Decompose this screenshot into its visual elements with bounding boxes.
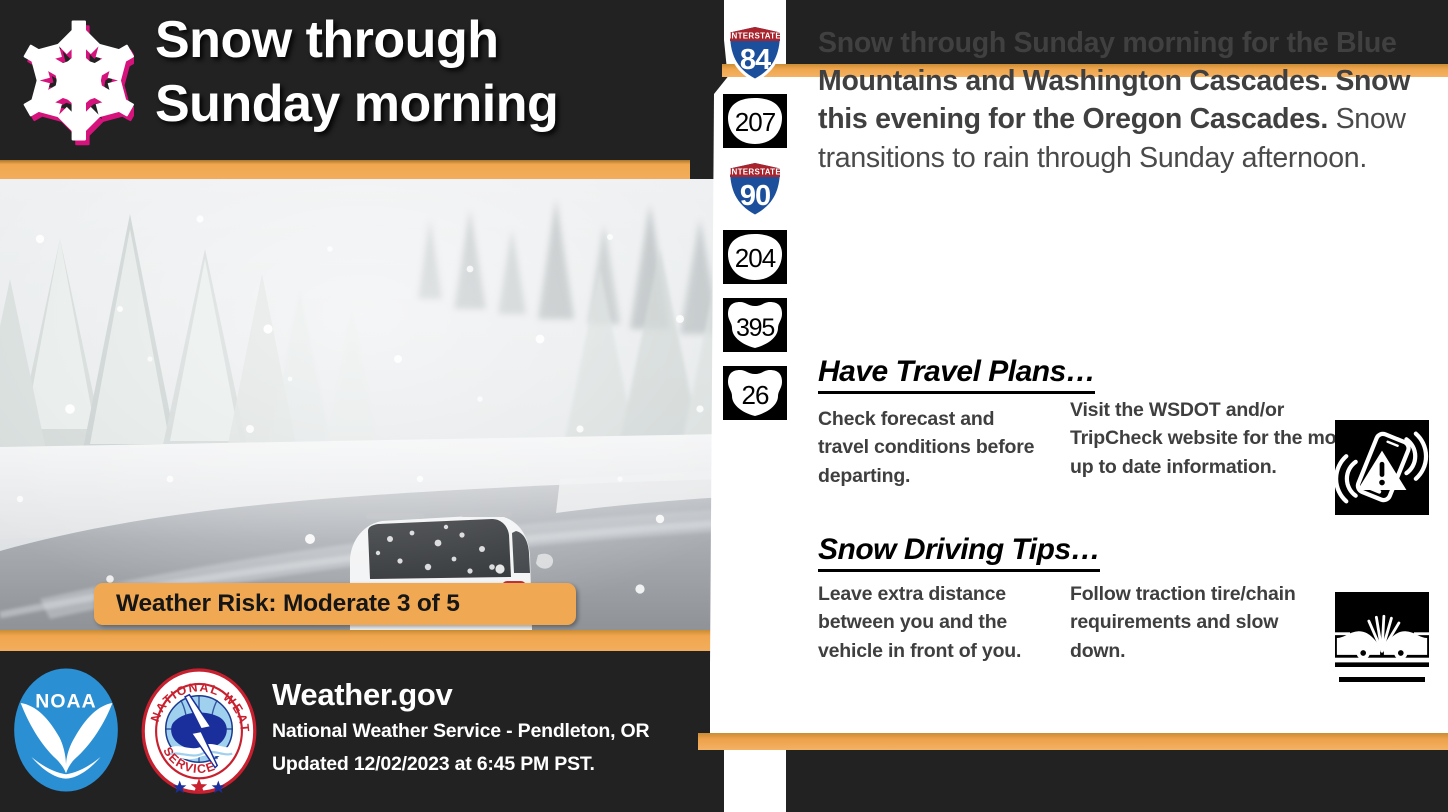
shield-number-2: 90 xyxy=(740,180,770,212)
car-collision-icon xyxy=(1335,592,1429,667)
shield-number-1: 207 xyxy=(735,107,776,137)
shield-banner-0: INTERSTATE xyxy=(729,32,781,41)
nws-logo: NATIONAL WEATHER SERVICE xyxy=(140,664,258,794)
route-shield-i90: INTERSTATE 90 xyxy=(720,158,790,220)
shield-number-5: 26 xyxy=(742,380,769,410)
section-heading-snow-driving-tips: Snow Driving Tips… xyxy=(818,533,1100,572)
travel-plans-column-1: Check forecast and travel conditions bef… xyxy=(818,405,1048,490)
page-title: Snow through Sunday morning xyxy=(155,8,695,137)
office-label: National Weather Service - Pendleton, OR xyxy=(272,716,722,746)
forecast-headline-bold: Snow through Sunday morning for the Blue… xyxy=(818,27,1410,135)
shield-number-4: 395 xyxy=(736,314,774,342)
shield-number-3: 204 xyxy=(735,243,776,273)
route-shield-us26: 26 xyxy=(720,362,790,424)
left-panel: Weather Risk: Moderate 3 of 5 xyxy=(0,0,724,812)
shield-number-0: 84 xyxy=(740,44,771,76)
title-line-2: Sunday morning xyxy=(155,72,695,136)
route-shield-or204: 204 xyxy=(720,226,790,288)
travel-plans-column-2: Visit the WSDOT and/or TripCheck website… xyxy=(1070,396,1360,481)
section-heading-travel-plans: Have Travel Plans… xyxy=(818,355,1095,394)
weather-graphic: Weather Risk: Moderate 3 of 5 xyxy=(0,0,1448,812)
shield-banner-2: INTERSTATE xyxy=(729,168,781,177)
svg-text:NOAA: NOAA xyxy=(35,690,97,712)
updated-label: Updated 12/02/2023 at 6:45 PM PST. xyxy=(272,749,722,779)
snowflake-icon xyxy=(14,8,134,153)
weather-gov-label: Weather.gov xyxy=(272,676,722,713)
weather-risk-badge: Weather Risk: Moderate 3 of 5 xyxy=(94,583,576,625)
footer-text-block: Weather.gov National Weather Service - P… xyxy=(272,676,722,780)
route-shield-list: INTERSTATE 84 207 INTERSTATE 90 xyxy=(720,22,800,430)
crash-icon-underline xyxy=(1339,677,1425,682)
route-shield-or207: 207 xyxy=(720,90,790,152)
noaa-logo: NOAA xyxy=(12,666,120,794)
orange-divider-bottom-left xyxy=(0,630,724,651)
weather-risk-label: Weather Risk: Moderate 3 of 5 xyxy=(116,590,460,618)
route-shield-us395: 395 xyxy=(720,294,790,356)
right-panel: INTERSTATE 84 207 INTERSTATE 90 xyxy=(710,0,1448,812)
route-shield-i84: INTERSTATE 84 xyxy=(720,22,790,84)
orange-divider-top-left xyxy=(0,160,690,179)
forecast-headline: Snow through Sunday morning for the Blue… xyxy=(818,24,1440,177)
orange-divider-bottom-right xyxy=(698,733,1448,750)
snow-road-photo xyxy=(0,179,724,630)
driving-tips-column-1: Leave extra distance between you and the… xyxy=(818,580,1068,665)
driving-tips-column-2: Follow traction tire/chain requirements … xyxy=(1070,580,1320,665)
phone-alert-icon xyxy=(1335,420,1429,515)
title-line-1: Snow through xyxy=(155,8,695,72)
